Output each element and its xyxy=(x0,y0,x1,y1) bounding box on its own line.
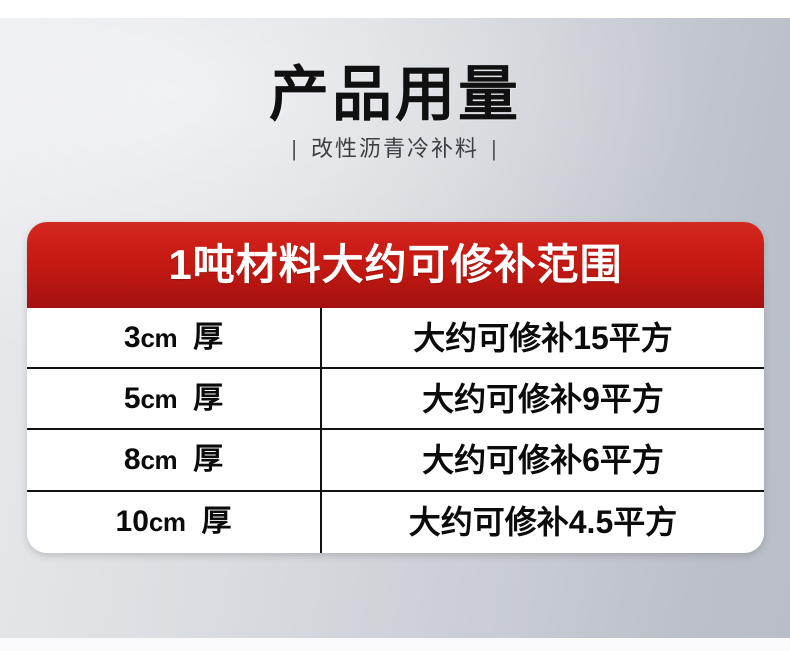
table-cell-thickness: 3cm厚 xyxy=(27,308,322,367)
thickness-label: 5cm厚 xyxy=(124,382,223,416)
area-result: 大约可修补6平方 xyxy=(422,442,664,478)
subtitle-left-bar: | xyxy=(291,134,299,164)
product-usage-page: 产品用量 |改性沥青冷补料| 1吨材料大约可修补范围 3cm厚 大约可修补15平… xyxy=(0,0,790,651)
table-row: 3cm厚 大约可修补15平方 xyxy=(27,308,764,369)
area-result: 大约可修补15平方 xyxy=(413,320,673,356)
table-cell-thickness: 8cm厚 xyxy=(27,430,322,489)
thickness-unit: cm xyxy=(141,384,178,414)
table-cell-area: 大约可修补9平方 xyxy=(322,369,764,428)
subtitle-text: 改性沥青冷补料 xyxy=(311,136,479,161)
table-cell-thickness: 5cm厚 xyxy=(27,369,322,428)
thickness-label: 8cm厚 xyxy=(124,443,223,477)
area-result: 大约可修补4.5平方 xyxy=(409,504,678,540)
page-subtitle: |改性沥青冷补料| xyxy=(0,134,790,164)
table-cell-thickness: 10cm厚 xyxy=(27,492,322,553)
table-row: 8cm厚 大约可修补6平方 xyxy=(27,430,764,491)
thickness-value: 5 xyxy=(124,382,141,415)
top-white-strip xyxy=(0,0,790,18)
thickness-value: 3 xyxy=(124,321,141,354)
table-row: 5cm厚 大约可修补9平方 xyxy=(27,369,764,430)
thickness-word: 厚 xyxy=(193,443,223,476)
card-header-title: 1吨材料大约可修补范围 xyxy=(168,242,622,288)
thickness-value: 8 xyxy=(124,443,141,476)
thickness-word: 厚 xyxy=(193,321,223,354)
thickness-word: 厚 xyxy=(193,382,223,415)
thickness-word: 厚 xyxy=(201,505,231,538)
bottom-white-strip xyxy=(0,638,790,651)
usage-table: 3cm厚 大约可修补15平方 5cm厚 大约可修补9平方 8cm厚 xyxy=(27,308,764,553)
thickness-label: 10cm厚 xyxy=(116,505,232,539)
card-header-banner: 1吨材料大约可修补范围 xyxy=(27,222,764,308)
usage-table-card: 1吨材料大约可修补范围 3cm厚 大约可修补15平方 5cm厚 大约可修补9平方 xyxy=(27,222,764,553)
subtitle-right-bar: | xyxy=(491,134,499,164)
thickness-unit: cm xyxy=(141,323,178,353)
heading-block: 产品用量 |改性沥青冷补料| xyxy=(0,62,790,164)
thickness-value: 10 xyxy=(116,505,149,538)
thickness-label: 3cm厚 xyxy=(124,321,223,355)
area-result: 大约可修补9平方 xyxy=(422,381,664,417)
table-cell-area: 大约可修补15平方 xyxy=(322,308,764,367)
table-row: 10cm厚 大约可修补4.5平方 xyxy=(27,492,764,553)
thickness-unit: cm xyxy=(149,507,186,537)
page-title: 产品用量 xyxy=(0,62,790,128)
table-cell-area: 大约可修补6平方 xyxy=(322,430,764,489)
thickness-unit: cm xyxy=(141,445,178,475)
table-cell-area: 大约可修补4.5平方 xyxy=(322,492,764,553)
